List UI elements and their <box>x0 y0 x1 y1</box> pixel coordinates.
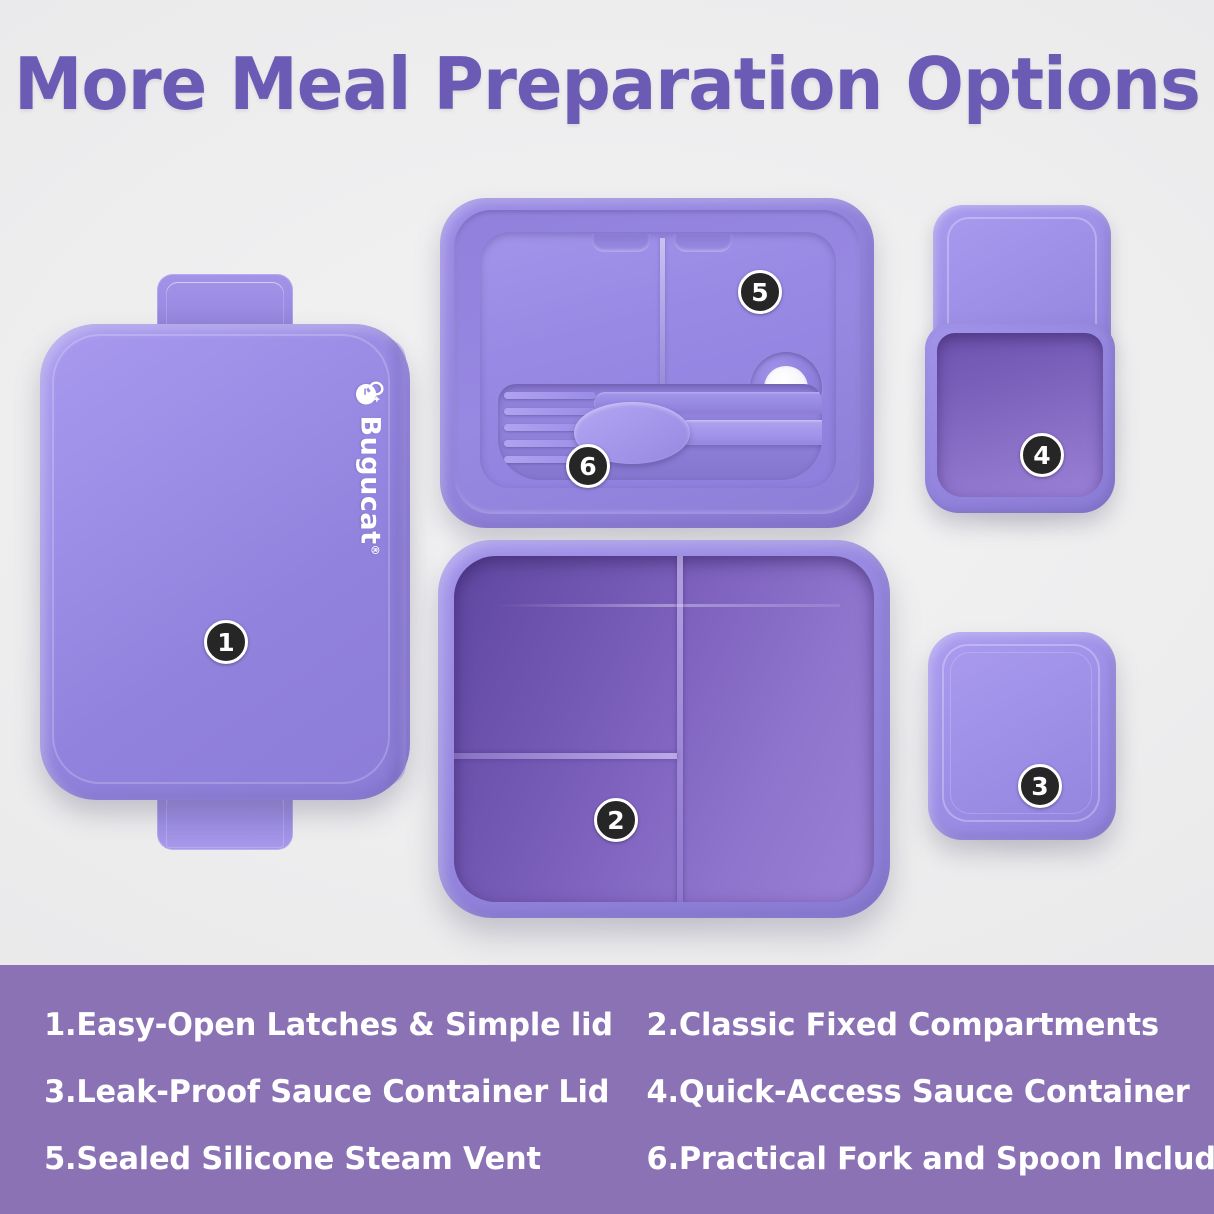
infographic-canvas: More Meal Preparation Options Bugucat® <box>0 0 1214 1214</box>
base-outer-shell <box>438 540 890 918</box>
tray-notch-right <box>674 234 732 252</box>
badge-4[interactable]: 4 <box>1020 433 1064 477</box>
compartment-divider-vertical <box>677 556 683 902</box>
sauce-container-cup <box>925 323 1115 513</box>
feature-item-1: 1.Easy-Open Latches & Simple lid <box>0 991 613 1058</box>
badge-2[interactable]: 2 <box>594 798 638 842</box>
lid-surface: Bugucat® <box>40 324 410 800</box>
sauce-container-interior <box>937 333 1103 497</box>
base-compartments <box>454 556 874 902</box>
product-bento-base: 2 <box>438 540 890 918</box>
bugucat-cat-icon <box>352 375 388 411</box>
feature-list: 1.Easy-Open Latches & Simple lid 2.Class… <box>0 965 1214 1214</box>
tray-lip <box>454 210 860 514</box>
feature-item-2: 2.Classic Fixed Compartments <box>625 991 1214 1058</box>
page-title-container: More Meal Preparation Options <box>0 34 1214 134</box>
badge-1[interactable]: 1 <box>204 620 248 664</box>
page-title: More Meal Preparation Options <box>14 42 1200 126</box>
sauce-container-lid-surface <box>928 632 1116 840</box>
feature-item-3: 3.Leak-Proof Sauce Container Lid <box>0 1058 613 1125</box>
cutlery-tray <box>498 384 822 480</box>
badge-3[interactable]: 3 <box>1018 764 1062 808</box>
brand-name: Bugucat® <box>357 416 384 556</box>
feature-item-6: 6.Practical Fork and Spoon Included <box>625 1125 1214 1192</box>
feature-item-5: 5.Sealed Silicone Steam Vent <box>0 1125 613 1192</box>
badge-5[interactable]: 5 <box>738 270 782 314</box>
product-lid: Bugucat® 1 <box>40 268 410 856</box>
feature-item-4: 4.Quick-Access Sauce Container <box>625 1058 1214 1125</box>
tray-well <box>480 232 836 488</box>
spoon-handle <box>676 420 822 445</box>
lid-rim <box>384 338 406 786</box>
product-sauce-container-open: 4 <box>925 205 1125 535</box>
compartment-divider-horizontal <box>454 753 677 759</box>
badge-6[interactable]: 6 <box>566 444 610 488</box>
tray-notch-left <box>592 234 650 252</box>
brand-logo: Bugucat® <box>352 375 388 556</box>
tray-outer-shell <box>440 198 874 528</box>
product-top-tray: 5 6 <box>440 198 874 528</box>
product-sauce-container-closed: 3 <box>928 632 1123 852</box>
feature-caption-band: 1.Easy-Open Latches & Simple lid 2.Class… <box>0 965 1214 1214</box>
